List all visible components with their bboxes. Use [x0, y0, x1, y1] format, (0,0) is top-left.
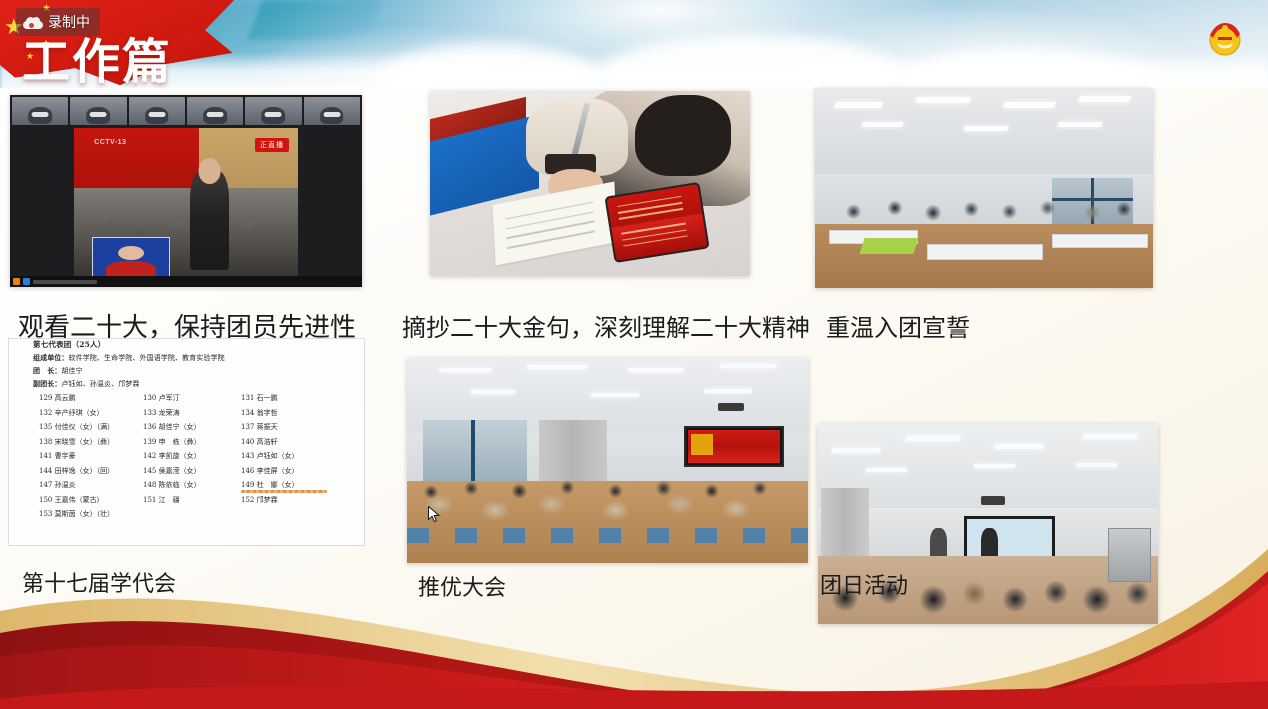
card-caption: 摘抄二十大金句，深刻理解二十大精神 — [402, 308, 810, 343]
meeting-participant-tiles — [10, 95, 362, 127]
card-caption: 推优大会 — [418, 570, 506, 602]
communist-youth-league-emblem-icon — [1204, 17, 1246, 59]
roster-row: 132 辛产纾琪（女）133 龙荣涛134 翁字哲 — [9, 408, 364, 418]
card-caption: 第十七届学代会 — [22, 566, 176, 598]
field-value: 卢钰如、孙温炎、邝梦霖 — [61, 380, 139, 388]
participant-tile — [304, 97, 360, 125]
roster-row: 147 孙温炎148 陈依临（女）149 杜 娜（女） — [9, 480, 364, 490]
presentation-slide: ★ ★ ★ ★ ★ 工作篇 录制中 — [0, 0, 1268, 709]
slide-header-banner: ★ ★ ★ ★ ★ — [0, 0, 1268, 88]
delegate-roster: 129 高云鹏130 卢军汀131 石一鹏 132 辛产纾琪（女）133 龙荣涛… — [9, 393, 364, 519]
roster-row: 129 高云鹏130 卢军汀131 石一鹏 — [9, 393, 364, 403]
meeting-toolbar — [10, 276, 362, 287]
field-label: 团 长： — [33, 366, 61, 375]
document-field: 组成单位：软件学院、生命学院、外国语学院、教育实验学院 — [33, 353, 364, 363]
participant-tile — [129, 97, 185, 125]
roster-row: 141 曹宇豪142 李凯旋（女）143 卢钰如（女） — [9, 451, 364, 461]
sky-streak-decoration-2 — [247, 0, 383, 40]
field-label: 副团长： — [33, 379, 61, 388]
card-caption: 团日活动 — [820, 568, 908, 600]
roster-row: 150 王嘉伟（蒙古）151 江 疆152 邝梦霖 — [9, 495, 364, 505]
highlight-underline — [241, 490, 327, 493]
document-field: 团 长：胡佳宁 — [33, 366, 364, 376]
recording-status-badge: 录制中 — [16, 8, 100, 36]
roster-row: 144 田梓逸（女）（回）145 侯嘉滢（女）146 李佳屏（女） — [9, 466, 364, 476]
field-value: 软件学院、生命学院、外国语学院、教育实验学院 — [69, 354, 225, 362]
sign-language-inset — [92, 237, 170, 280]
recording-status-label: 录制中 — [48, 12, 90, 32]
field-value: 胡佳宁 — [61, 367, 82, 375]
presentation-display — [684, 426, 784, 467]
shared-screen-broadcast: CCTV-13 正直播 — [74, 128, 298, 287]
document-heading: 第七代表团（25人） — [33, 339, 364, 350]
delegate-name-list-document[interactable]: 第七代表团（25人） 组成单位：软件学院、生命学院、外国语学院、教育实验学院 团… — [8, 338, 365, 546]
live-broadcast-tag: 正直播 — [255, 138, 289, 152]
mouse-pointer-icon — [428, 506, 440, 524]
roster-row: 135 付佳仪（女）（满）136 胡佳宁（女）137 蒋振天 — [9, 422, 364, 432]
broadcast-channel-label: CCTV-13 — [94, 139, 126, 146]
participant-tile — [12, 97, 68, 125]
roster-row: 138 宋晓雪（女）（彝）139 申 栋（彝）140 高浩轩 — [9, 437, 364, 447]
online-meeting-screenshot[interactable]: CCTV-13 正直播 — [10, 95, 362, 287]
field-label: 组成单位： — [33, 353, 69, 362]
roster-row: 153 莫斯茵（女）（壮） — [9, 509, 364, 519]
cloud-recording-icon — [23, 16, 43, 29]
participant-tile — [245, 97, 301, 125]
classroom-oath-photo[interactable] — [815, 88, 1153, 288]
document-field: 副团长：卢钰如、孙温炎、邝梦霖 — [33, 379, 364, 389]
card-caption: 重温入团宣誓 — [826, 308, 970, 343]
recommendation-meeting-photo[interactable] — [407, 358, 808, 563]
student-writing-notes-photo[interactable] — [430, 91, 750, 276]
participant-tile — [70, 97, 126, 125]
participant-tile — [187, 97, 243, 125]
slide-content-grid: CCTV-13 正直播 观看二十大，保持团员先进性 — [0, 88, 1268, 608]
